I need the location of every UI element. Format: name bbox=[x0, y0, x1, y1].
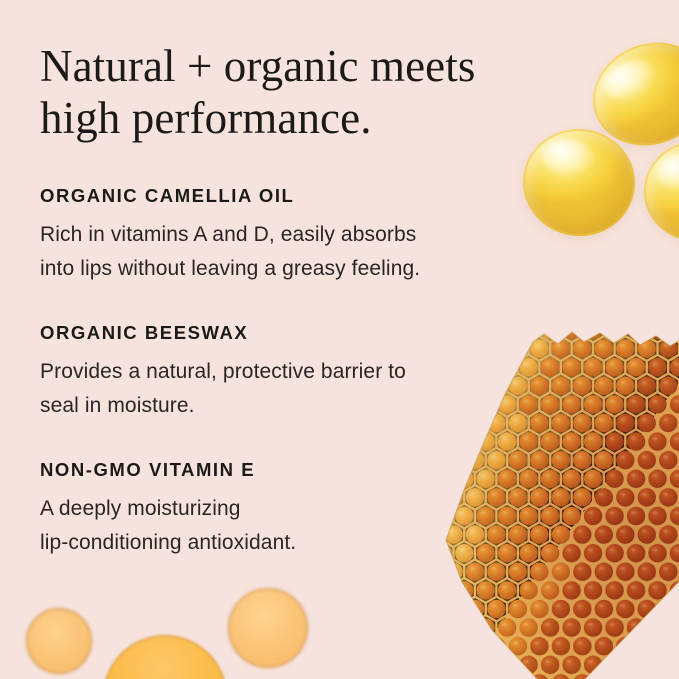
droplet-rim bbox=[516, 122, 642, 244]
benefit-item-beeswax: ORGANIC BEESWAX Provides a natural, prot… bbox=[40, 322, 510, 423]
benefit-body-line-2: seal in moisture. bbox=[40, 394, 195, 417]
oil-droplet-left-icon bbox=[516, 122, 642, 244]
droplet-highlight bbox=[655, 151, 679, 192]
benefit-heading: ORGANIC BEESWAX bbox=[40, 322, 510, 344]
content-column: Natural + organic meets high performance… bbox=[40, 40, 510, 560]
benefit-body-line-2: lip-conditioning antioxidant. bbox=[40, 531, 296, 554]
droplet-rim bbox=[578, 26, 679, 163]
benefit-body-line-1: Rich in vitamins A and D, easily absorbs bbox=[40, 223, 416, 246]
headline-line-2: high performance. bbox=[40, 93, 372, 143]
droplet-body bbox=[516, 122, 642, 244]
bokeh-circle-right-icon bbox=[228, 588, 308, 668]
bokeh-fill bbox=[26, 608, 92, 674]
page-title: Natural + organic meets high performance… bbox=[40, 40, 510, 144]
benefit-body-line-1: A deeply moisturizing bbox=[40, 497, 241, 520]
droplet-body bbox=[639, 136, 679, 246]
benefit-item-camellia: ORGANIC CAMELLIA OIL Rich in vitamins A … bbox=[40, 185, 510, 286]
benefit-body: A deeply moisturizing lip-conditioning a… bbox=[40, 492, 510, 560]
benefit-item-vitamin-e: NON-GMO VITAMIN E A deeply moisturizing … bbox=[40, 459, 510, 560]
headline-line-1: Natural + organic meets bbox=[40, 41, 475, 91]
benefit-body-line-1: Provides a natural, protective barrier t… bbox=[40, 360, 406, 383]
droplet-highlight bbox=[540, 136, 599, 182]
oil-droplet-top-icon bbox=[578, 26, 679, 163]
droplet-rim bbox=[639, 136, 679, 246]
benefit-body: Provides a natural, protective barrier t… bbox=[40, 355, 510, 423]
benefit-heading: NON-GMO VITAMIN E bbox=[40, 459, 510, 481]
benefit-body-line-2: into lips without leaving a greasy feeli… bbox=[40, 257, 420, 280]
benefit-body: Rich in vitamins A and D, easily absorbs… bbox=[40, 218, 510, 286]
benefit-heading: ORGANIC CAMELLIA OIL bbox=[40, 185, 510, 207]
oil-droplet-right-icon bbox=[639, 136, 679, 246]
droplet-body bbox=[578, 26, 679, 163]
bokeh-circle-small-icon bbox=[26, 608, 92, 674]
bokeh-fill bbox=[103, 635, 227, 679]
droplet-highlight bbox=[597, 53, 663, 108]
bokeh-fill bbox=[228, 588, 308, 668]
product-benefits-graphic: Natural + organic meets high performance… bbox=[0, 0, 679, 679]
bokeh-circle-large-icon bbox=[103, 635, 227, 679]
